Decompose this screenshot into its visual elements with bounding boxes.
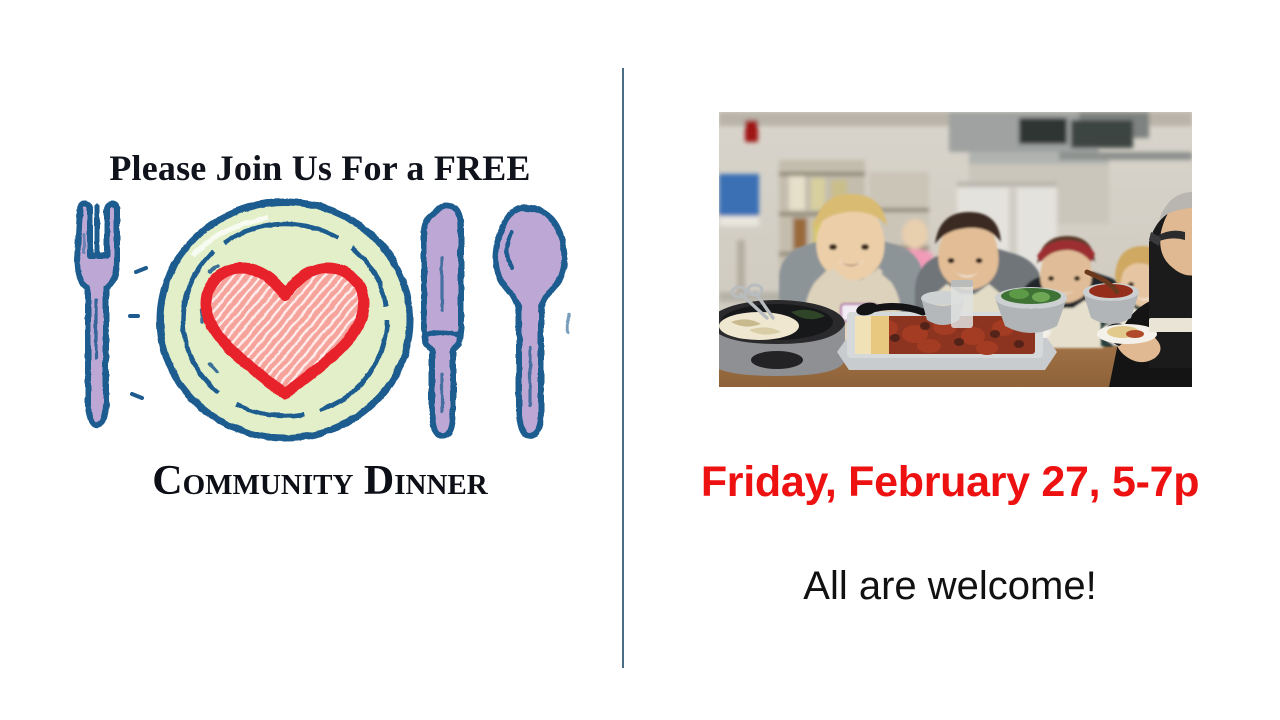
- serving-plate: [1097, 324, 1157, 344]
- knife-icon: [424, 205, 461, 436]
- welcome-line: All are welcome!: [620, 564, 1280, 609]
- clear-container: [951, 280, 973, 328]
- place-setting-svg: [60, 198, 580, 448]
- event-photo-svg: [719, 112, 1192, 387]
- fork-icon: [77, 204, 117, 425]
- event-date-line: Friday, February 27, 5-7p: [620, 458, 1280, 507]
- salad-bowl: [995, 287, 1067, 333]
- spoon-icon: [496, 208, 568, 436]
- place-setting-artwork: [60, 198, 580, 448]
- event-photo: [719, 112, 1192, 387]
- community-dinner-logo: Please Join Us For a FREE: [60, 150, 580, 550]
- logo-headline: Please Join Us For a FREE: [60, 150, 580, 186]
- left-panel: Please Join Us For a FREE: [0, 0, 620, 720]
- sketch-accent-marks: [130, 268, 146, 398]
- right-panel: Friday, February 27, 5-7p All are welcom…: [620, 0, 1280, 720]
- logo-footline: Community Dinner: [60, 460, 580, 502]
